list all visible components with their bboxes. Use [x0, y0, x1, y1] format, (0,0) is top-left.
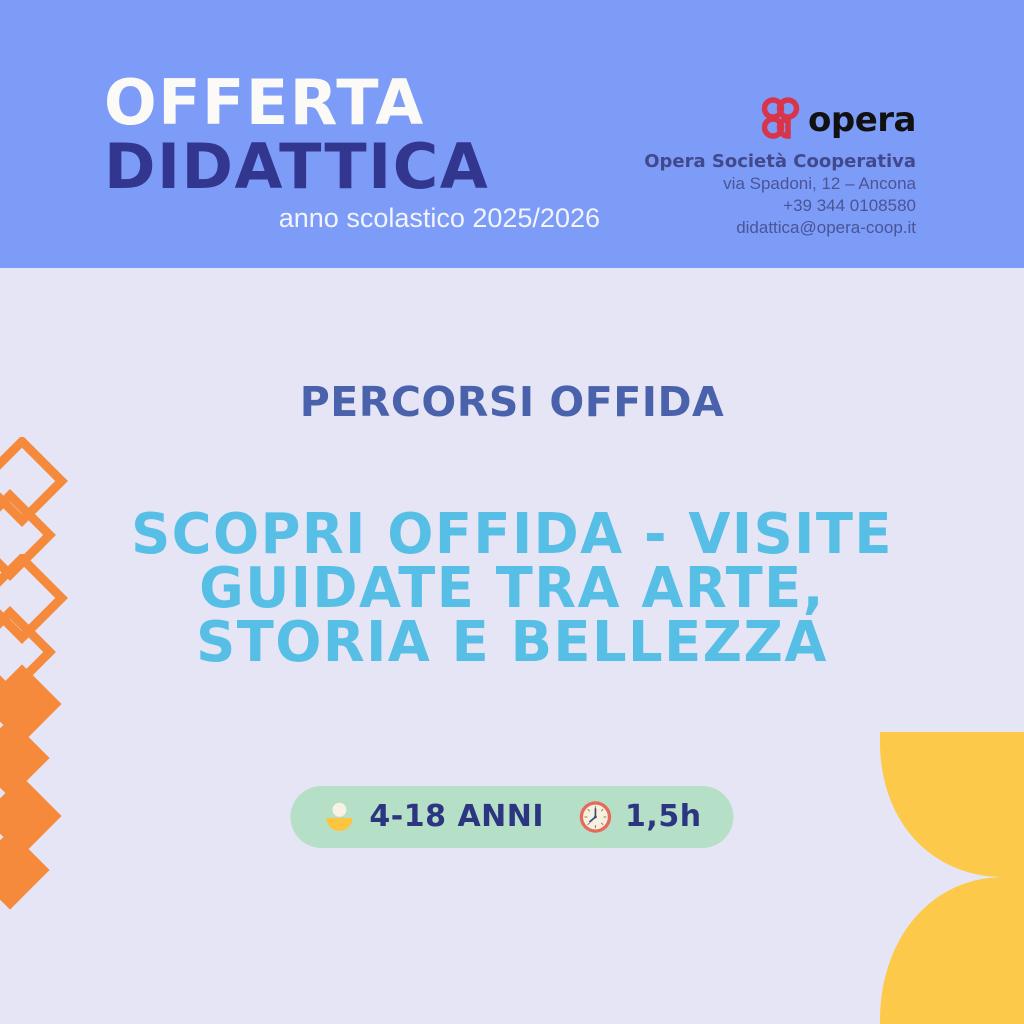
brand-email: didattica@opera-coop.it — [616, 217, 916, 239]
page-title-line-1: OFFERTA — [104, 72, 624, 134]
logo-row: opera — [616, 92, 916, 144]
brand-block: opera Opera Società Cooperativa via Spad… — [616, 92, 916, 239]
header-banner: OFFERTA DIDATTICA anno scolastico 2025/2… — [0, 0, 1024, 268]
opera-wordmark: opera — [808, 103, 916, 137]
page-title-line-2: DIDATTICA — [104, 134, 624, 200]
pill-age-label: 4-18 ANNI — [369, 802, 544, 832]
poster-canvas: OFFERTA DIDATTICA anno scolastico 2025/2… — [0, 0, 1024, 1024]
page-subtitle: anno scolastico 2025/2026 — [104, 202, 624, 234]
main-content: PERCORSI OFFIDA SCOPRI OFFIDA - VISITE G… — [0, 268, 1024, 1024]
header-title-block: OFFERTA DIDATTICA anno scolastico 2025/2… — [104, 72, 624, 234]
section-eyebrow: PERCORSI OFFIDA — [0, 378, 1024, 426]
pill-group-age: 4-18 ANNI — [322, 800, 544, 834]
info-pill: 4-18 ANNI — [290, 786, 733, 848]
main-headline: SCOPRI OFFIDA - VISITE GUIDATE TRA ARTE,… — [76, 508, 949, 670]
pill-duration-label: 1,5h — [625, 802, 702, 832]
person-age-icon — [322, 800, 356, 834]
pill-group-duration: 1,5h — [578, 800, 702, 834]
opera-clover-logo-icon — [752, 93, 802, 143]
brand-company-name: Opera Società Cooperativa — [616, 150, 916, 173]
brand-phone: +39 344 0108580 — [616, 195, 916, 217]
clock-icon — [578, 800, 612, 834]
brand-address: via Spadoni, 12 – Ancona — [616, 173, 916, 195]
